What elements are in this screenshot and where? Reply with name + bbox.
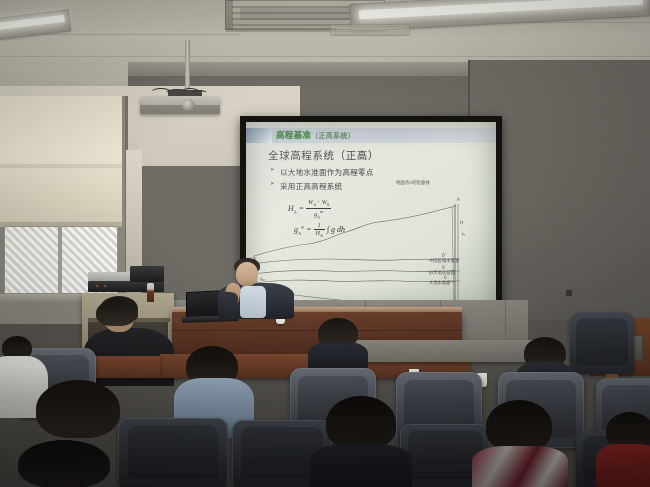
svg-text:A₀: A₀ bbox=[260, 277, 265, 282]
audience-desk-row-0 bbox=[350, 340, 550, 362]
audience-hair bbox=[486, 400, 552, 452]
water-bottle[interactable] bbox=[147, 283, 154, 302]
slide-bullet-1: 以大地水准面作为高程零点 bbox=[280, 167, 374, 178]
projection-screen: 高程基准（正高系统） 全球高程系统（正高） 以大地水准面作为高程零点 采用正高高… bbox=[246, 122, 496, 312]
svg-text:h: h bbox=[462, 232, 465, 237]
presenter-head bbox=[236, 262, 258, 286]
wall-outlet bbox=[566, 290, 572, 296]
audience-hair bbox=[18, 440, 110, 487]
presenter-shirt bbox=[240, 286, 266, 318]
audience-hair bbox=[36, 380, 120, 438]
audience-hair bbox=[96, 300, 136, 326]
lecture-hall-photo: 高程基准（正高系统） 全球高程系统（正高） 以大地水准面作为高程零点 采用正高高… bbox=[0, 0, 650, 487]
audience-body bbox=[596, 444, 650, 487]
slide-title-sub: （正高系统） bbox=[311, 133, 355, 140]
diagram-level-label-1: 似大地水准面 bbox=[429, 270, 455, 276]
window-blind[interactable] bbox=[0, 96, 122, 226]
window-mullion bbox=[58, 226, 62, 294]
slide-title-main: 高程基准 bbox=[276, 130, 311, 140]
audience-patterned-shirt bbox=[472, 446, 568, 487]
projector-lens bbox=[182, 99, 195, 111]
diagram-point-A: A bbox=[457, 197, 460, 202]
audience-hair bbox=[326, 396, 396, 450]
chair[interactable] bbox=[118, 418, 228, 487]
audience-body bbox=[310, 444, 412, 487]
slide-decoration-image bbox=[246, 128, 272, 143]
slide-heading: 全球高程系统（正高） bbox=[268, 148, 379, 163]
chair[interactable] bbox=[570, 312, 634, 374]
ceiling-seam bbox=[0, 56, 650, 57]
av-camera bbox=[130, 266, 164, 282]
diagram-level-label-0: 中国区域水准面 bbox=[429, 258, 459, 264]
svg-text:H: H bbox=[460, 220, 463, 225]
vent-edge bbox=[225, 0, 233, 30]
slide-title: 高程基准（正高系统） bbox=[276, 128, 355, 144]
projector-shadow bbox=[140, 105, 220, 114]
desk-edge-line bbox=[172, 330, 462, 331]
diagram-level-label-2: 大地水准面 bbox=[429, 280, 450, 286]
ceiling-tile bbox=[335, 26, 407, 36]
